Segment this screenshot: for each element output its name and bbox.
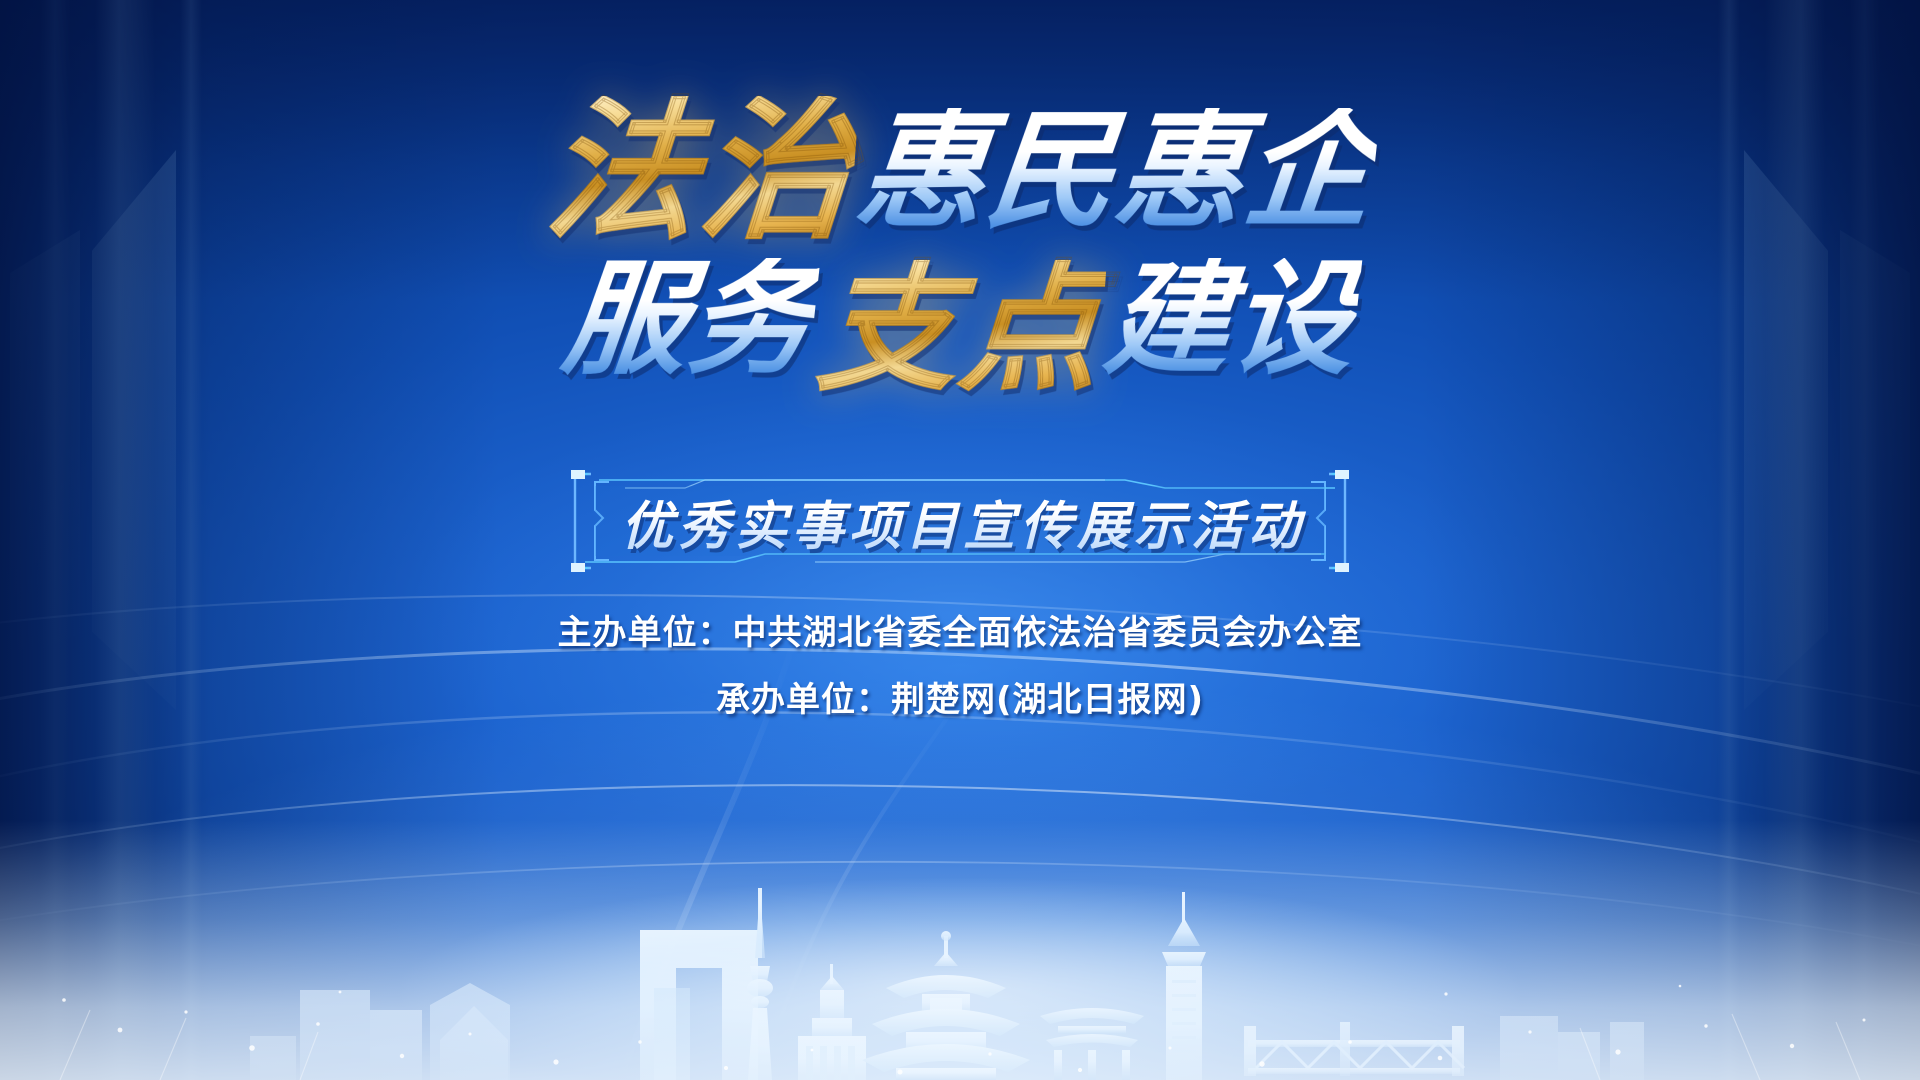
title-word-zhidian: 支点: [813, 260, 1107, 400]
subtitle-text: 优秀实事项目宣传展示活动: [565, 466, 1355, 576]
poster-canvas: 法治 惠民惠企 服务 支点 建设: [0, 0, 1920, 1080]
title-line-2: 服务 支点 建设: [0, 250, 1920, 400]
title-word-fazhi: 法治: [540, 96, 859, 248]
title-line-1: 法治 惠民惠企: [0, 96, 1920, 256]
organizer-line-operator: 承办单位：荆楚网(湖北日报网): [0, 679, 1920, 722]
ground-sparkle-particles: [0, 780, 1920, 1080]
subtitle-banner: 优秀实事项目宣传展示活动: [565, 466, 1355, 576]
poster-title: 法治 惠民惠企 服务 支点 建设: [0, 96, 1920, 400]
organizer-block: 主办单位：中共湖北省委全面依法治省委员会办公室 承办单位：荆楚网(湖北日报网): [0, 612, 1920, 745]
wuhan-skyline: [0, 740, 1920, 1080]
organizer-line-host: 主办单位：中共湖北省委全面依法治省委员会办公室: [0, 612, 1920, 655]
title-word-jianshe: 建设: [1100, 258, 1363, 382]
title-word-fuwu: 服务: [557, 258, 820, 382]
title-word-huiminhuiqi: 惠民惠企: [851, 108, 1380, 236]
